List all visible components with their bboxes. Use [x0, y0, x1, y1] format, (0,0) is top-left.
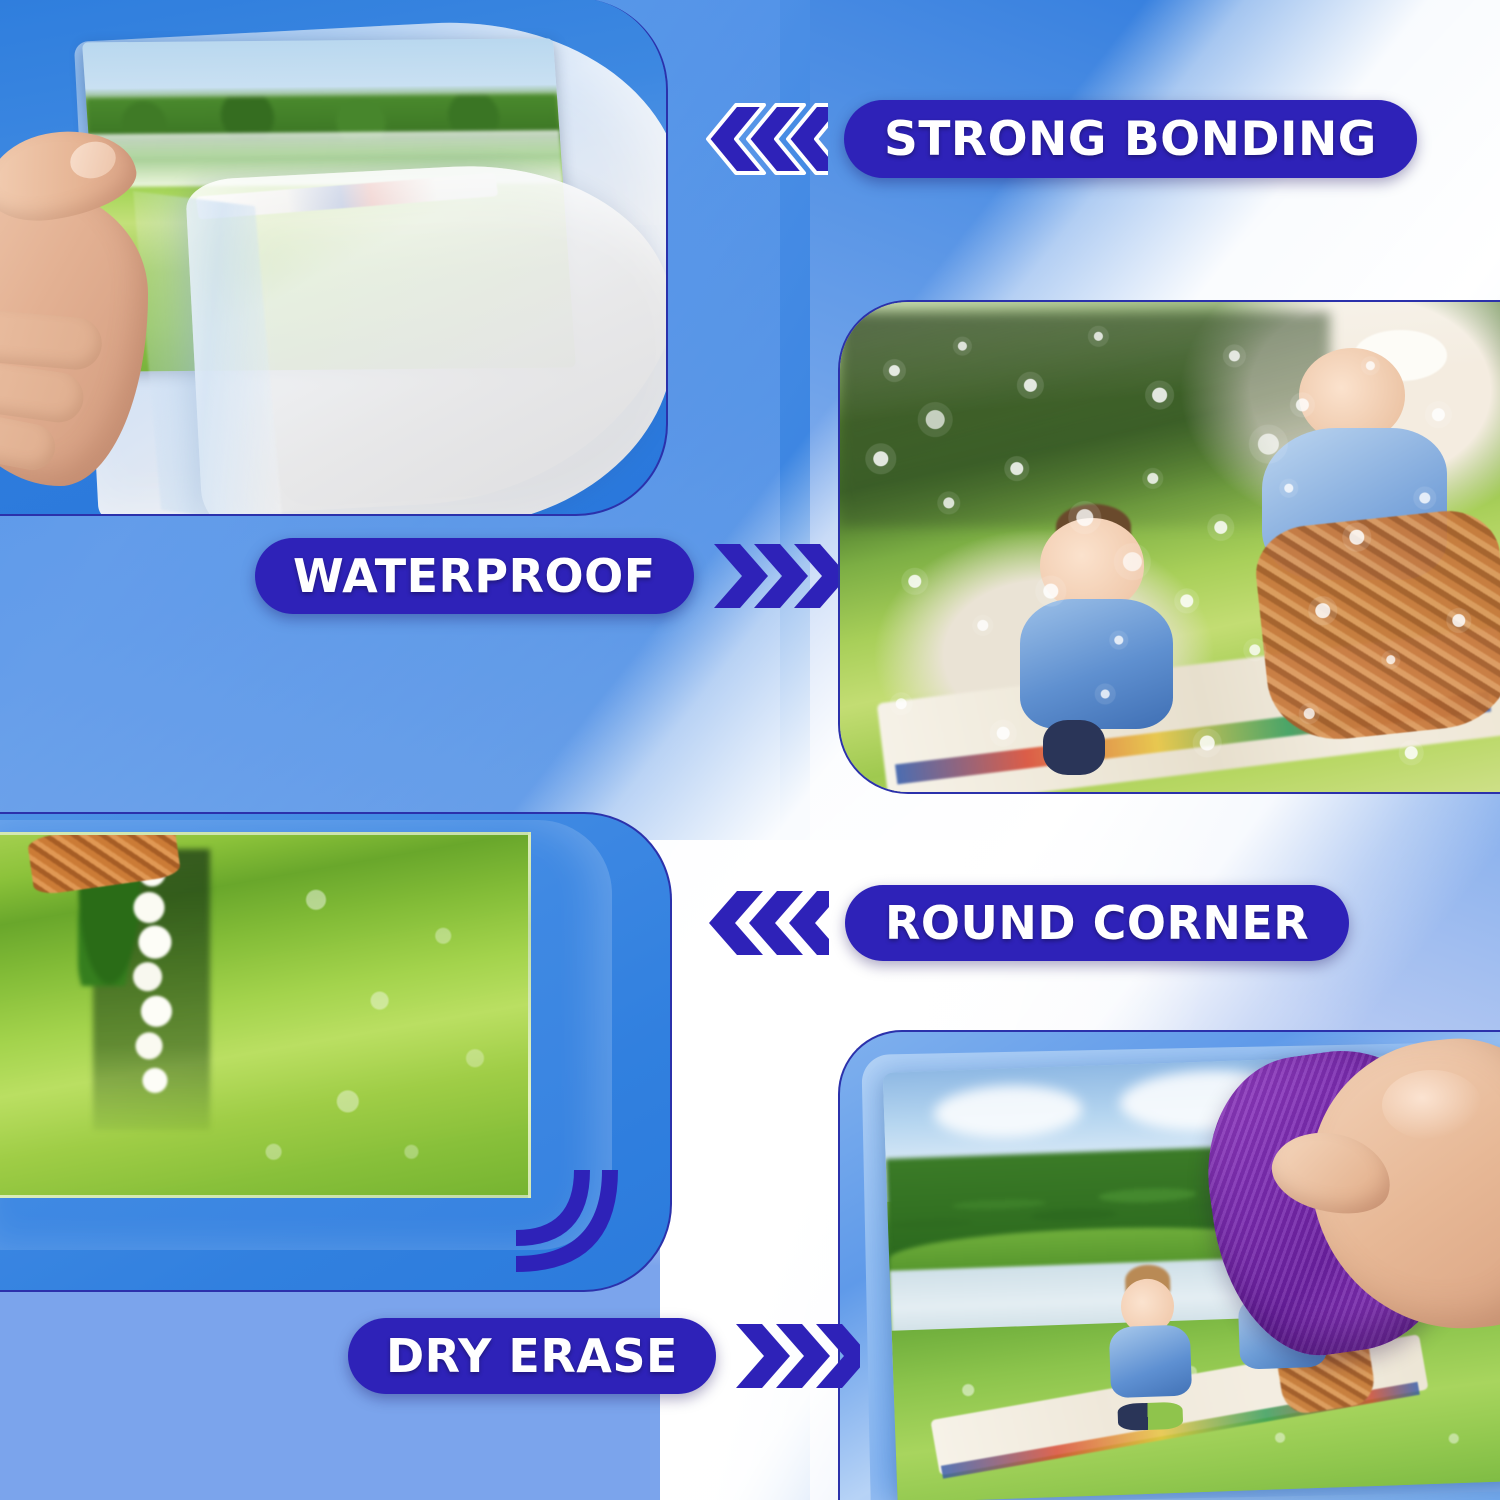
feature-badge-round-corner[interactable]: ROUND CORNER — [705, 885, 1349, 961]
feature-badge-waterproof[interactable]: WATERPROOF — [255, 538, 838, 614]
rounded-corner-arc-indicator-icon — [502, 1130, 652, 1280]
feature-label-pill: DRY ERASE — [348, 1318, 716, 1394]
feature-label-text: WATERPROOF — [293, 549, 656, 603]
feature-label-text: DRY ERASE — [386, 1329, 678, 1383]
chevron-left-triple-icon — [705, 885, 829, 961]
water-droplets-overlay — [840, 302, 1500, 792]
chevron-right-triple-icon — [710, 538, 838, 614]
hand-thumb — [0, 122, 141, 228]
feature-image-round-corner — [0, 812, 672, 1292]
feature-label-pill: WATERPROOF — [255, 538, 694, 614]
hand-knuckle-highlight — [1382, 1070, 1482, 1140]
feature-image-waterproof — [838, 300, 1500, 794]
photo-grass-flowers-closeup — [0, 832, 531, 1198]
hand-holding-sheet — [0, 126, 198, 486]
photo-bokeh-highlights — [0, 835, 528, 1195]
photo-child-boy — [1107, 1277, 1192, 1417]
feature-label-pill: ROUND CORNER — [845, 885, 1349, 961]
feature-image-strong-bonding — [0, 0, 668, 516]
feature-label-pill: STRONG BONDING — [844, 100, 1417, 178]
feature-badge-dry-erase[interactable]: DRY ERASE — [348, 1318, 860, 1394]
feature-image-dry-erase — [838, 1030, 1500, 1500]
feature-label-text: ROUND CORNER — [885, 896, 1309, 950]
hand-wiping — [1242, 1030, 1500, 1362]
feature-label-text: STRONG BONDING — [884, 112, 1377, 167]
child-legs — [1118, 1402, 1183, 1432]
child-body — [1109, 1324, 1192, 1398]
chevron-right-triple-icon — [732, 1318, 860, 1394]
infographic-canvas: STRONG BONDING WATERPROOF — [0, 0, 1500, 1500]
chevron-left-triple-icon — [700, 101, 828, 177]
feature-badge-strong-bonding[interactable]: STRONG BONDING — [700, 100, 1417, 178]
